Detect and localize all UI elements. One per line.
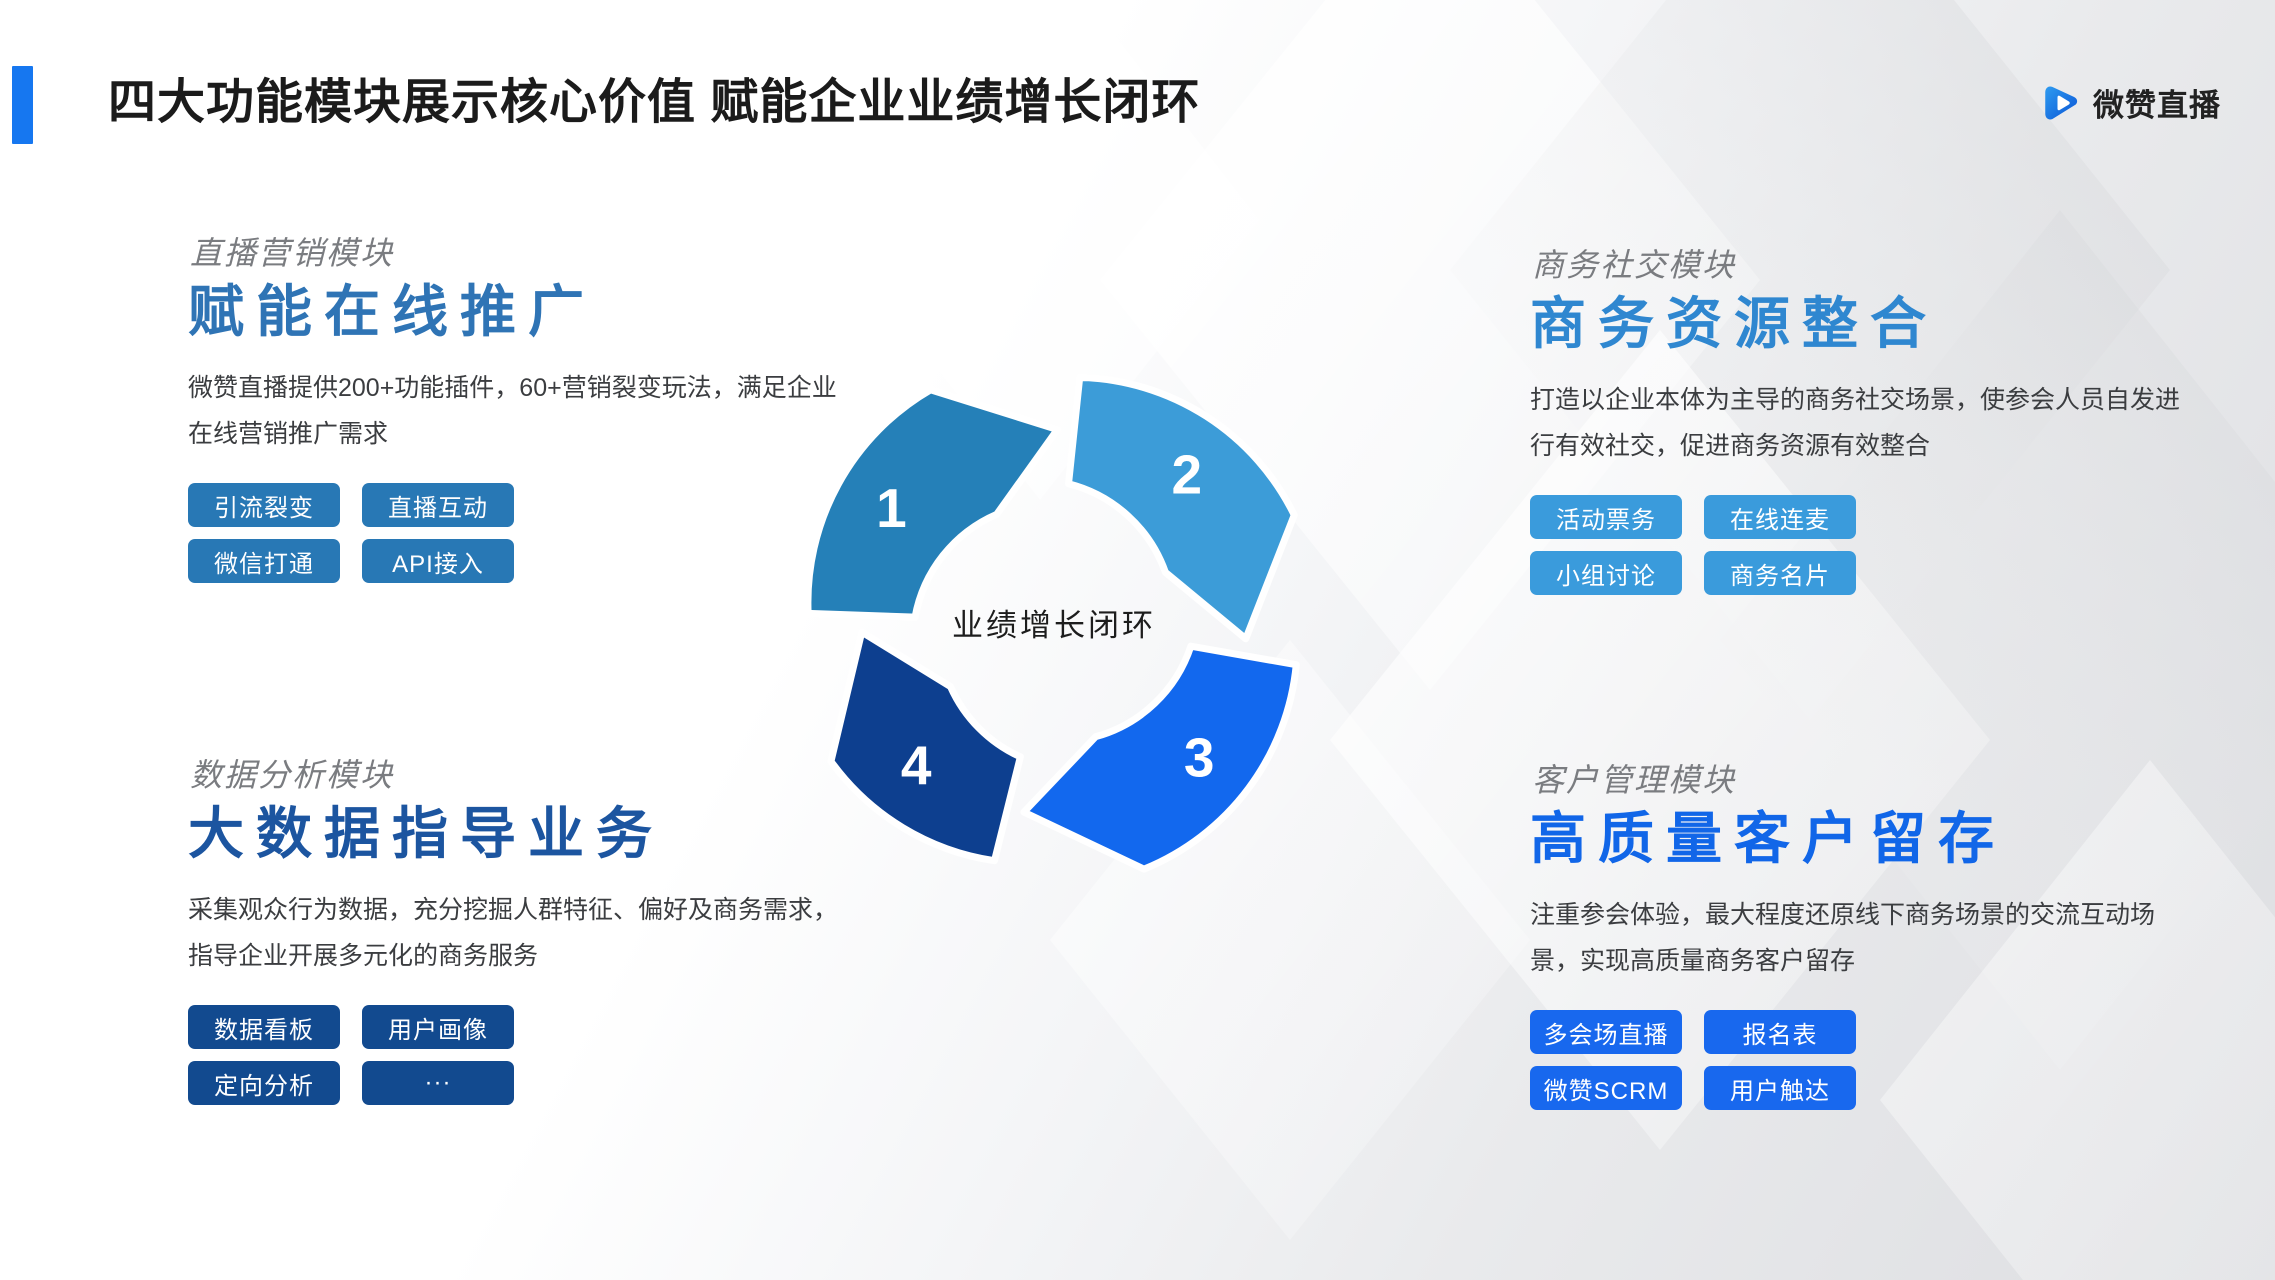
module-tag[interactable]: 引流裂变 — [188, 483, 340, 527]
module-tag[interactable]: 活动票务 — [1530, 495, 1682, 539]
cycle-segment-number: 1 — [876, 477, 907, 539]
cycle-segment — [1024, 646, 1296, 869]
module-tag[interactable]: 报名表 — [1704, 1010, 1856, 1054]
module-title: 高质量客户留存 — [1530, 807, 2250, 871]
cycle-segment-number: 3 — [1184, 726, 1215, 788]
module-tag[interactable]: 微信打通 — [188, 539, 340, 583]
module-title: 赋能在线推广 — [188, 280, 908, 344]
module-tag[interactable]: 商务名片 — [1704, 551, 1856, 595]
module-kicker: 商务社交模块 — [1532, 240, 2250, 286]
growth-cycle-diagram: 1 2 3 4 业绩增长闭环 — [800, 368, 1308, 876]
cycle-svg: 1 2 3 4 — [800, 368, 1308, 876]
module-description: 微赞直播提供200+功能插件，60+营销裂变玩法，满足企业在线营销推广需求 — [188, 366, 848, 457]
module-customer-management: 客户管理模块 高质量客户留存 注重参会体验，最大程度还原线下商务场景的交流互动场… — [1530, 755, 2250, 1110]
module-kicker: 直播营销模块 — [190, 228, 908, 274]
module-tag[interactable]: 定向分析 — [188, 1061, 340, 1105]
module-title: 商务资源整合 — [1530, 292, 2250, 356]
cycle-segment-number: 4 — [901, 734, 932, 796]
module-description: 注重参会体验，最大程度还原线下商务场景的交流互动场景，实现高质量商务客户留存 — [1530, 893, 2190, 984]
module-tag-list: 活动票务 在线连麦 小组讨论 商务名片 — [1530, 495, 2250, 595]
title-accent-bar — [12, 66, 33, 144]
play-logo-icon — [2040, 82, 2082, 124]
module-tag[interactable]: API接入 — [362, 539, 514, 583]
module-description: 采集观众行为数据，充分挖掘人群特征、偏好及商务需求，指导企业开展多元化的商务服务 — [188, 888, 848, 979]
cycle-segment-number: 2 — [1172, 443, 1203, 505]
module-tag[interactable]: 用户画像 — [362, 1005, 514, 1049]
module-description: 打造以企业本体为主导的商务社交场景，使参会人员自发进行有效社交，促进商务资源有效… — [1530, 378, 2190, 469]
slide-canvas: 四大功能模块展示核心价值 赋能企业业绩增长闭环 微赞直播 直播营销模块 赋能在线… — [0, 0, 2275, 1280]
module-tag[interactable]: 用户触达 — [1704, 1066, 1856, 1110]
module-kicker: 客户管理模块 — [1532, 755, 2250, 801]
brand-logo: 微赞直播 — [2040, 80, 2221, 125]
cycle-segment — [808, 390, 1057, 617]
slide-header: 四大功能模块展示核心价值 赋能企业业绩增长闭环 微赞直播 — [0, 0, 2275, 165]
module-business-social: 商务社交模块 商务资源整合 打造以企业本体为主导的商务社交场景，使参会人员自发进… — [1530, 240, 2250, 595]
cycle-segment — [1069, 377, 1295, 638]
module-tag[interactable]: ··· — [362, 1061, 514, 1105]
brand-name: 微赞直播 — [2093, 80, 2221, 125]
module-tag[interactable]: 数据看板 — [188, 1005, 340, 1049]
module-tag[interactable]: 小组讨论 — [1530, 551, 1682, 595]
module-tag[interactable]: 在线连麦 — [1704, 495, 1856, 539]
module-tag[interactable]: 直播互动 — [362, 483, 514, 527]
module-tag-list: 数据看板 用户画像 定向分析 ··· — [188, 1005, 908, 1105]
module-tag[interactable]: 多会场直播 — [1530, 1010, 1682, 1054]
module-tag[interactable]: 微赞SCRM — [1530, 1066, 1682, 1110]
page-title: 四大功能模块展示核心价值 赋能企业业绩增长闭环 — [108, 62, 1200, 132]
module-tag-list: 多会场直播 报名表 微赞SCRM 用户触达 — [1530, 1010, 2250, 1110]
